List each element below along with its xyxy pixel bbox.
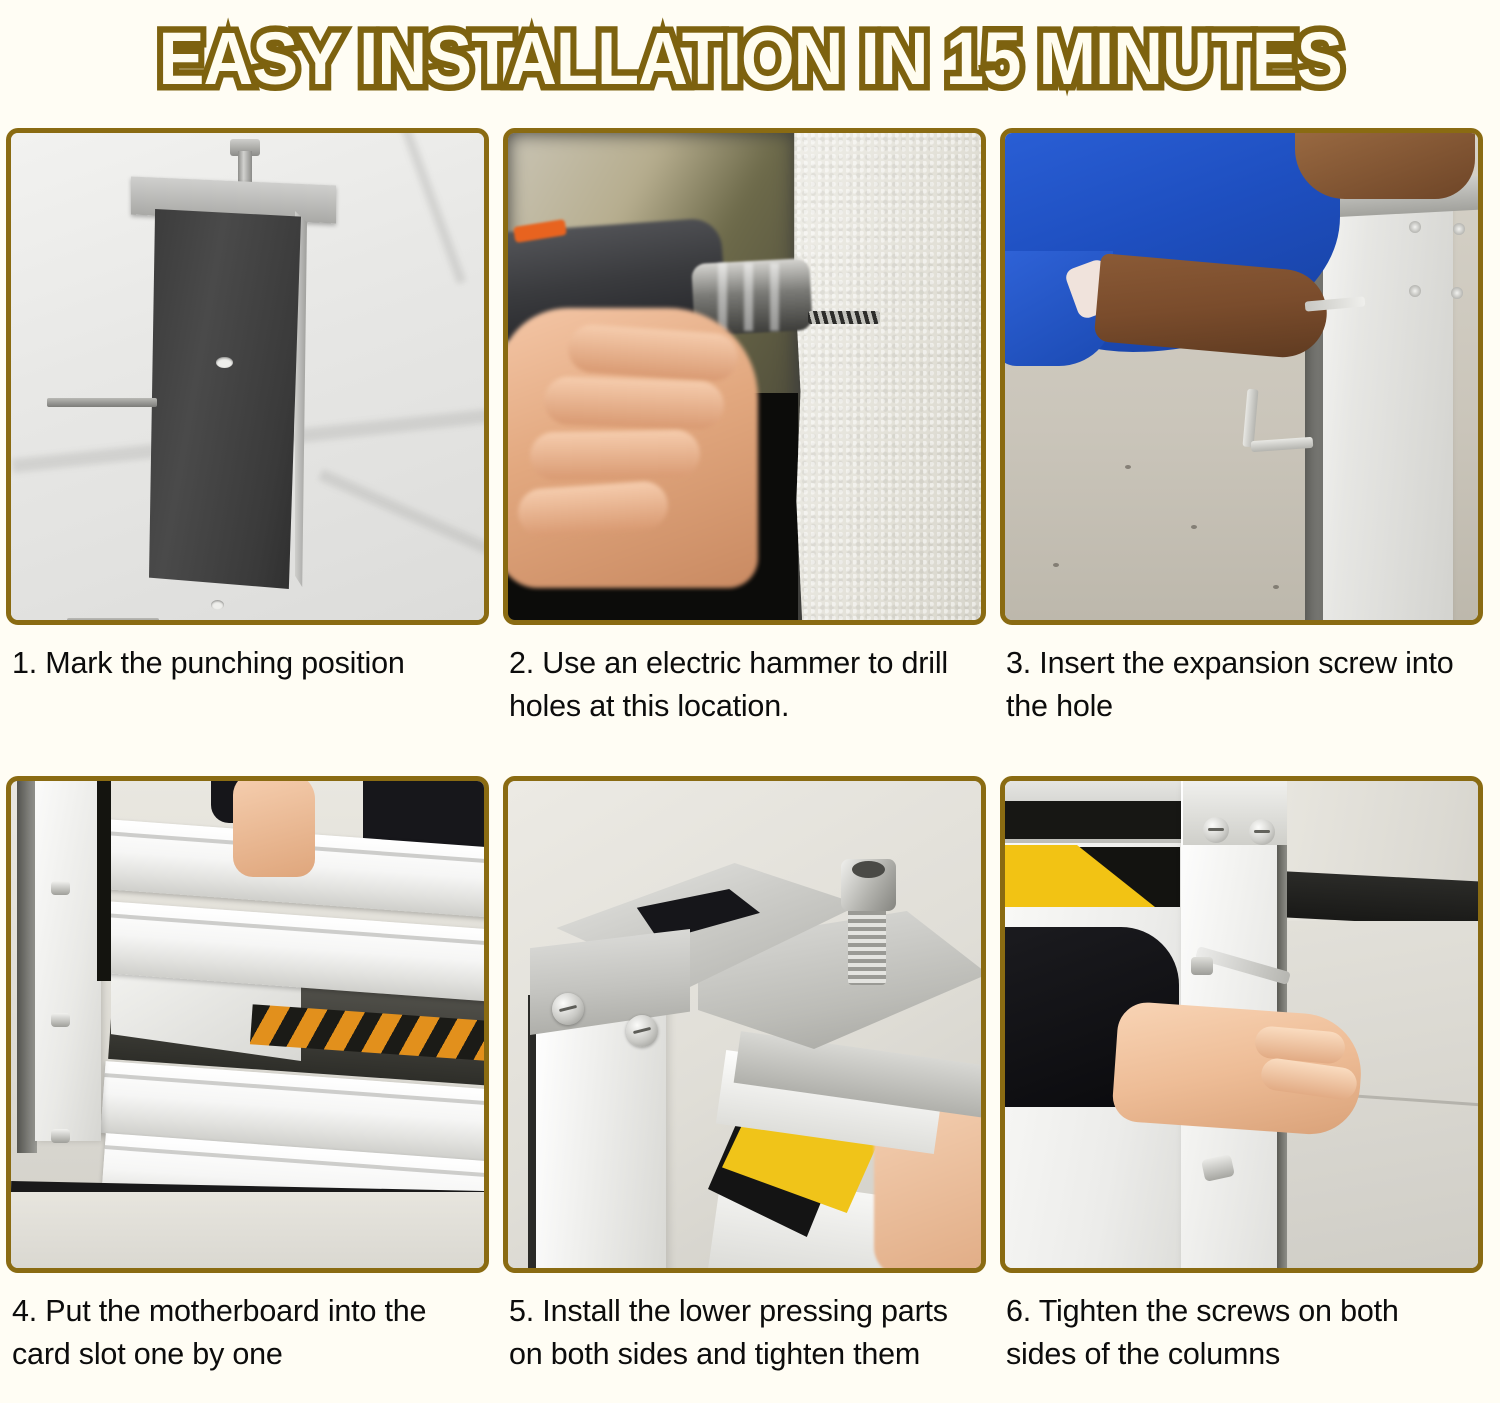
step-1-caption: 1. Mark the punching position [6,628,489,685]
dark-column-post [149,209,301,589]
alignment-pin-upper [47,398,157,407]
chuck-ring [718,263,727,331]
column-screw [1409,285,1421,297]
marking-hole-upper [216,357,233,368]
scene-lower-pressing-parts [508,781,981,1268]
drill-bit [808,311,880,324]
column-screw [1451,287,1463,299]
scene-mark-punching-position [11,133,484,620]
chuck-ring [744,263,753,331]
step-3-caption-cell: 3. Insert the expansion screw into the h… [1000,628,1497,776]
step-6-caption-cell: 6. Tighten the screws on both sides of t… [1000,1276,1497,1403]
installation-guide-page: EASY INSTALLATION IN 15 MINUTES [0,0,1500,1403]
cabinet-black-strip [1005,801,1181,839]
screwdriver-tip [1191,957,1213,975]
page-title: EASY INSTALLATION IN 15 MINUTES [158,22,1341,96]
floor-speck [1125,465,1131,469]
bracket-screw [552,993,584,1025]
floor-speck [1053,563,1059,567]
finger [543,376,725,430]
board-groove [104,913,484,946]
floor-speck [1273,585,1279,589]
threaded-bolt-shaft [848,899,886,985]
column-screw [1409,221,1421,233]
alignment-pin-lower [67,618,159,620]
floor-surface [11,1192,484,1268]
step-6-image-cell [1000,776,1497,1276]
post-dark-edge [528,995,536,1268]
scene-tighten-screws [1005,781,1478,1268]
step-1-image-cell [6,128,503,628]
step-1-photo [6,128,489,625]
scene-insert-expansion-screw [1005,133,1478,620]
bracket-screw [626,1015,658,1047]
step-5-caption: 5. Install the lower pressing parts on b… [503,1276,986,1377]
step-6-caption: 6. Tighten the screws on both sides of t… [1000,1276,1483,1377]
column-screw-right [1249,819,1275,845]
column-screw [1453,223,1465,235]
allen-wrench-short-arm [1251,437,1314,452]
marking-hole-lower [211,600,224,610]
upright-screw [51,1013,70,1027]
step-5-image-cell [503,776,1000,1276]
step-2-caption-cell: 2. Use an electric hammer to drill holes… [503,628,1000,776]
finger [530,430,701,481]
page-title-banner: EASY INSTALLATION IN 15 MINUTES [0,0,1500,118]
allen-wrench-long-arm [1242,389,1258,448]
worker-upper-hand [1295,133,1475,199]
step-4-caption-cell: 4. Put the motherboard into the card slo… [6,1276,503,1403]
scene-drill-holes [508,133,981,620]
step-6-photo [1000,776,1483,1273]
step-3-photo [1000,128,1483,625]
steps-grid: 1. Mark the punching position 2. Use an … [6,128,1496,1403]
step-4-image-cell [6,776,503,1276]
step-1-caption-cell: 1. Mark the punching position [6,628,503,776]
upright-column [35,781,101,1141]
step-5-photo [503,776,986,1273]
upright-dark-edge [17,781,37,1153]
upright-black-channel [97,781,111,981]
step-4-photo [6,776,489,1273]
column-screw-left [1203,817,1229,843]
chuck-ring [770,263,779,331]
scene-insert-motherboard [11,781,484,1268]
textured-wall [790,133,981,620]
white-column-post [1323,169,1453,620]
upright-screw [51,881,70,895]
cloth-fold [318,469,484,569]
step-2-caption: 2. Use an electric hammer to drill holes… [503,628,986,729]
floor-speck [1191,525,1197,529]
upright-screw [51,1129,70,1143]
step-4-caption: 4. Put the motherboard into the card slo… [6,1276,489,1377]
cloth-fold [396,133,467,284]
step-3-caption: 3. Insert the expansion screw into the h… [1000,628,1483,729]
bolt-socket-hole [852,861,885,878]
step-5-caption-cell: 5. Install the lower pressing parts on b… [503,1276,1000,1403]
hand-placing-board [233,781,315,877]
step-2-image-cell [503,128,1000,628]
pressing-bracket-front [530,929,690,1035]
step-2-photo [503,128,986,625]
step-3-image-cell [1000,128,1497,628]
